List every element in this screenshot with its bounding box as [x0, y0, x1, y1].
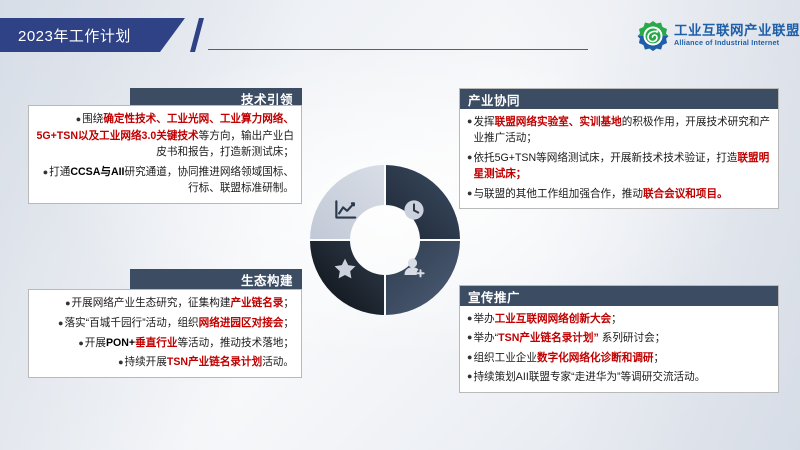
bullet-text: ●落实“百城千园行”活动，组织网络进园区对接会；: [36, 315, 294, 332]
logo-name-cn: 工业互联网产业联盟: [674, 24, 800, 39]
card-promotion[interactable]: 宣传推广 ● 举办工业互联网网络创新大会； ● 举办“TSN产业链名录计划” 系…: [459, 285, 779, 393]
bullet-dot-icon: ●: [58, 318, 63, 328]
clock-icon: [404, 200, 423, 219]
bullet-dot-icon: ●: [65, 298, 70, 308]
bullet-dot-icon: ●: [118, 357, 123, 367]
card-title-collab: 产业协同: [460, 89, 778, 109]
donut-segment-top-right: [386, 165, 460, 239]
list-item: ● 发挥联盟网络实验室、实训基地的积极作用，开展技术研究和产业推广活动；: [467, 114, 771, 147]
bullet-text: ●打通CCSA与AII研究通道，协同推进网络领域国标、行标、联盟标准研制。: [36, 164, 294, 197]
gear-logo-icon: [637, 20, 669, 52]
donut-segment-bottom-right: [386, 241, 460, 315]
bullet-dot-icon: ●: [467, 150, 472, 166]
bullet-dot-icon: ●: [467, 186, 472, 202]
card-title-eco: 生态构建: [130, 269, 302, 289]
card-industry-collaboration[interactable]: 产业协同 ● 发挥联盟网络实验室、实训基地的积极作用，开展技术研究和产业推广活动…: [459, 88, 779, 209]
bullet-text: ●开展PON+垂直行业等活动，推动技术落地；: [36, 335, 294, 352]
card-body-collab: ● 发挥联盟网络实验室、实训基地的积极作用，开展技术研究和产业推广活动； ● 依…: [460, 109, 778, 208]
bullet-text: 发挥联盟网络实验室、实训基地的积极作用，开展技术研究和产业推广活动；: [473, 114, 771, 147]
list-item: ● 依托5G+TSN等网络测试床，开展新技术技术验证，打造联盟明星测试床；: [467, 150, 771, 183]
bullet-text: ●持续开展TSN产业链名录计划活动。: [36, 354, 294, 371]
bullet-dot-icon: ●: [467, 330, 472, 346]
card-title-promo: 宣传推广: [460, 286, 778, 306]
card-body-tech: ●围绕确定性技术、工业光网、工业算力网络、5G+TSN以及工业网络3.0关键技术…: [29, 106, 301, 203]
donut-segment-top-left: [310, 165, 384, 239]
page-title: 2023年工作计划: [18, 25, 131, 46]
list-item: ●围绕确定性技术、工业光网、工业算力网络、5G+TSN以及工业网络3.0关键技术…: [36, 111, 294, 161]
card-ecosystem-building[interactable]: ●开展网络产业生态研究，征集构建产业链名录； ●落实“百城千园行”活动，组织网络…: [28, 289, 302, 378]
list-item: ● 举办“TSN产业链名录计划” 系列研讨会；: [467, 330, 771, 346]
card-body-eco: ●开展网络产业生态研究，征集构建产业链名录； ●落实“百城千园行”活动，组织网络…: [29, 290, 301, 377]
bullet-dot-icon: ●: [76, 114, 81, 124]
alliance-logo: 工业互联网产业联盟 Alliance of Industrial Interne…: [637, 19, 793, 53]
bullet-dot-icon: ●: [467, 369, 472, 385]
list-item: ● 组织工业企业数字化网络化诊断和调研；: [467, 350, 771, 366]
card-body-promo: ● 举办工业互联网网络创新大会； ● 举办“TSN产业链名录计划” 系列研讨会；…: [460, 306, 778, 392]
list-item: ●落实“百城千园行”活动，组织网络进园区对接会；: [36, 315, 294, 332]
list-item: ●打通CCSA与AII研究通道，协同推进网络领域国标、行标、联盟标准研制。: [36, 164, 294, 197]
card-technology-lead[interactable]: ●围绕确定性技术、工业光网、工业算力网络、5G+TSN以及工业网络3.0关键技术…: [28, 105, 302, 204]
bullet-text: 依托5G+TSN等网络测试床，开展新技术技术验证，打造联盟明星测试床；: [473, 150, 771, 183]
list-item: ●持续开展TSN产业链名录计划活动。: [36, 354, 294, 371]
header-divider-line: [208, 49, 588, 50]
bullet-text: 组织工业企业数字化网络化诊断和调研；: [473, 350, 771, 366]
title-slash-accent: [190, 18, 204, 52]
donut-diagram: [305, 160, 465, 320]
bullet-dot-icon: ●: [78, 338, 83, 348]
bullet-text: 持续策划AII联盟专家“走进华为”等调研交流活动。: [473, 369, 771, 385]
bullet-dot-icon: ●: [467, 114, 472, 130]
list-item: ●开展PON+垂直行业等活动，推动技术落地；: [36, 335, 294, 352]
list-item: ●开展网络产业生态研究，征集构建产业链名录；: [36, 295, 294, 312]
bullet-text: 与联盟的其他工作组加强合作，推动联合会议和项目。: [473, 186, 771, 202]
bullet-dot-icon: ●: [467, 350, 472, 366]
bullet-dot-icon: ●: [43, 167, 48, 177]
bullet-text: 举办“TSN产业链名录计划” 系列研讨会；: [473, 330, 771, 346]
bullet-text: 举办工业互联网网络创新大会；: [473, 311, 771, 327]
bullet-text: ●开展网络产业生态研究，征集构建产业链名录；: [36, 295, 294, 312]
bullet-text: ●围绕确定性技术、工业光网、工业算力网络、5G+TSN以及工业网络3.0关键技术…: [36, 111, 294, 161]
bullet-dot-icon: ●: [467, 311, 472, 327]
donut-segment-bottom-left: [310, 241, 384, 315]
list-item: ● 与联盟的其他工作组加强合作，推动联合会议和项目。: [467, 186, 771, 202]
list-item: ● 持续策划AII联盟专家“走进华为”等调研交流活动。: [467, 369, 771, 385]
logo-name-en: Alliance of Industrial Internet: [674, 39, 800, 48]
logo-text: 工业互联网产业联盟 Alliance of Industrial Interne…: [674, 24, 800, 47]
list-item: ● 举办工业互联网网络创新大会；: [467, 311, 771, 327]
